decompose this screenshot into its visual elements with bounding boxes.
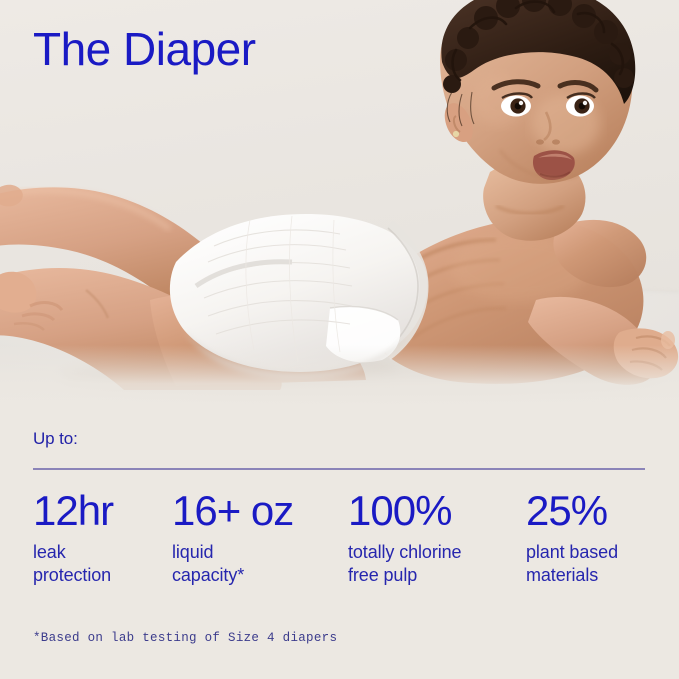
footnote: *Based on lab testing of Size 4 diapers bbox=[33, 630, 337, 646]
section-divider bbox=[33, 468, 645, 470]
stats-section: Up to: 12hr leakprotection 16+ oz liquid… bbox=[0, 415, 679, 679]
stat-label: totally chlorinefree pulp bbox=[348, 541, 520, 587]
stat-label: leakprotection bbox=[33, 541, 168, 587]
stat-value: 16+ oz bbox=[172, 487, 342, 535]
stat-item-liquid-capacity: 16+ oz liquidcapacity* bbox=[172, 487, 342, 587]
stat-value: 100% bbox=[348, 487, 520, 535]
up-to-label: Up to: bbox=[33, 428, 78, 450]
stat-item-plant-based-materials: 25% plant basedmaterials bbox=[526, 487, 676, 587]
stat-value: 12hr bbox=[33, 487, 168, 535]
stat-value: 25% bbox=[526, 487, 676, 535]
stat-item-leak-protection: 12hr leakprotection bbox=[33, 487, 168, 587]
page-title: The Diaper bbox=[33, 20, 256, 78]
stat-item-chlorine-free-pulp: 100% totally chlorinefree pulp bbox=[348, 487, 520, 587]
stats-row: 12hr leakprotection 16+ oz liquidcapacit… bbox=[0, 487, 679, 617]
stat-label: plant basedmaterials bbox=[526, 541, 676, 587]
product-feature-card: The Diaper Up to: 12hr leakprotection 16… bbox=[0, 0, 679, 679]
stat-label: liquidcapacity* bbox=[172, 541, 342, 587]
